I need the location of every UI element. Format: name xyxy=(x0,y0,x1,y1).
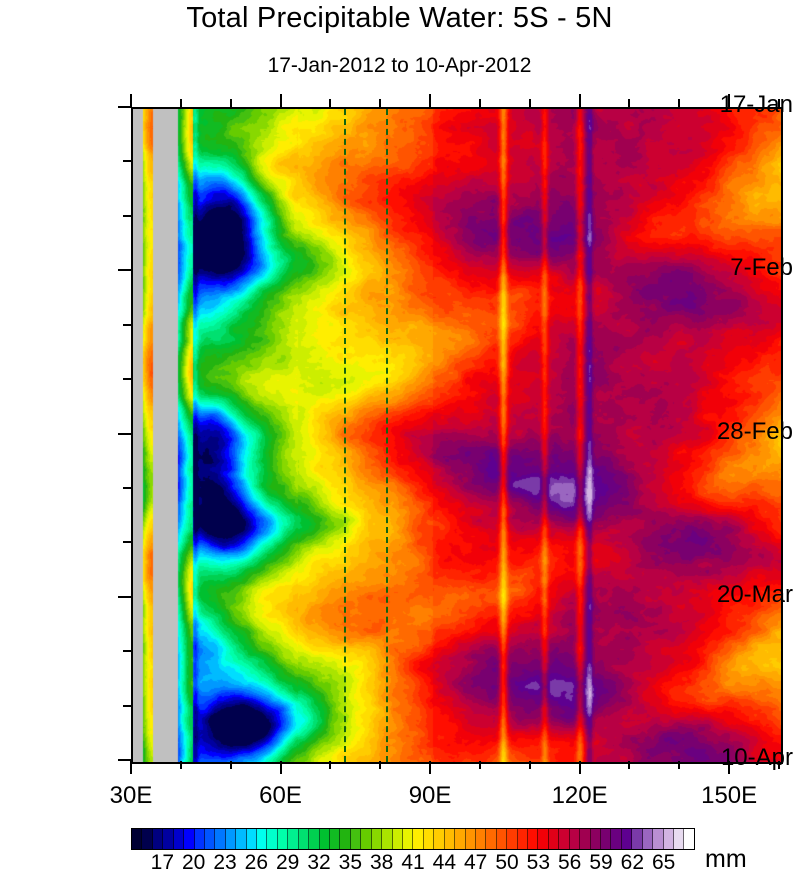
y-tick-minor xyxy=(123,487,131,489)
y-tick-minor xyxy=(123,324,131,326)
page-title: Total Precipitable Water: 5S - 5N xyxy=(0,2,799,35)
colorbar-tick-label: 65 xyxy=(634,851,694,875)
x-tick-minor xyxy=(479,761,481,769)
x-tick-minor-top xyxy=(628,99,630,107)
colorbar-swatch xyxy=(372,829,382,849)
colorbar-swatch xyxy=(361,829,371,849)
x-tick-minor xyxy=(379,761,381,769)
x-tick-minor xyxy=(678,761,680,769)
y-tick-minor xyxy=(123,378,131,380)
x-tick-minor-top xyxy=(230,99,232,107)
colorbar-swatch xyxy=(466,829,476,849)
colorbar-swatch xyxy=(632,829,642,849)
x-tick-minor-top xyxy=(678,99,680,107)
colorbar-swatch xyxy=(309,829,319,849)
colorbar xyxy=(131,828,695,850)
colorbar-swatch xyxy=(653,829,663,849)
x-tick-minor xyxy=(329,761,331,769)
colorbar-swatch xyxy=(476,829,486,849)
x-tick-minor xyxy=(180,761,182,769)
colorbar-swatch xyxy=(393,829,403,849)
colorbar-swatch xyxy=(497,829,507,849)
y-tick-minor xyxy=(123,215,131,217)
y-tick-label: 17-Jan xyxy=(681,91,799,119)
colorbar-swatch xyxy=(382,829,392,849)
y-tick-minor xyxy=(123,650,131,652)
colorbar-swatch xyxy=(622,829,632,849)
x-tick-major-top xyxy=(429,94,431,107)
y-tick-major xyxy=(118,759,131,761)
y-tick-major xyxy=(118,433,131,435)
x-tick-minor-top xyxy=(379,99,381,107)
x-tick-minor xyxy=(628,761,630,769)
y-tick-label: 20-Mar xyxy=(681,581,799,609)
colorbar-swatch xyxy=(205,829,215,849)
colorbar-swatch xyxy=(247,829,257,849)
colorbar-swatch xyxy=(674,829,684,849)
date-range-subtitle: 17-Jan-2012 to 10-Apr-2012 xyxy=(0,54,799,78)
colorbar-swatch xyxy=(549,829,559,849)
colorbar-swatch xyxy=(226,829,236,849)
vline-annotation-73e xyxy=(344,109,346,762)
colorbar-swatch xyxy=(580,829,590,849)
x-tick-minor-top xyxy=(180,99,182,107)
colorbar-swatch xyxy=(153,829,163,849)
x-tick-label: 150E xyxy=(669,782,789,810)
y-tick-major xyxy=(118,269,131,271)
colorbar-swatch xyxy=(507,829,517,849)
colorbar-swatch xyxy=(278,829,288,849)
colorbar-swatch xyxy=(434,829,444,849)
colorbar-swatch xyxy=(518,829,528,849)
colorbar-unit-label: mm xyxy=(705,845,747,874)
colorbar-swatch xyxy=(403,829,413,849)
colorbar-swatch xyxy=(643,829,653,849)
x-tick-minor-top xyxy=(329,99,331,107)
x-tick-minor xyxy=(529,761,531,769)
x-tick-minor-top xyxy=(479,99,481,107)
colorbar-swatch xyxy=(664,829,674,849)
colorbar-swatch xyxy=(184,829,194,849)
colorbar-swatch xyxy=(330,829,340,849)
x-tick-major-top xyxy=(280,94,282,107)
colorbar-swatch xyxy=(299,829,309,849)
colorbar-swatch xyxy=(591,829,601,849)
y-tick-minor xyxy=(123,705,131,707)
y-tick-minor xyxy=(123,541,131,543)
colorbar-swatch xyxy=(424,829,434,849)
colorbar-swatch xyxy=(257,829,267,849)
colorbar-tick-labels: 1720232629323538414447505356596265 xyxy=(0,851,799,877)
colorbar-swatch xyxy=(455,829,465,849)
colorbar-swatch xyxy=(538,829,548,849)
vline-annotation-81e xyxy=(386,109,388,762)
y-tick-label: 10-Apr xyxy=(681,744,799,772)
colorbar-swatch xyxy=(267,829,277,849)
colorbar-swatch xyxy=(215,829,225,849)
y-tick-major xyxy=(118,596,131,598)
colorbar-swatch xyxy=(340,829,350,849)
x-tick-major xyxy=(130,761,132,774)
x-tick-minor xyxy=(230,761,232,769)
x-tick-major xyxy=(429,761,431,774)
colorbar-swatch xyxy=(486,829,496,849)
colorbar-swatch xyxy=(528,829,538,849)
x-tick-major xyxy=(579,761,581,774)
colorbar-swatch xyxy=(195,829,205,849)
colorbar-swatch xyxy=(142,829,152,849)
colorbar-swatch xyxy=(570,829,580,849)
x-tick-label: 90E xyxy=(370,782,490,810)
colorbar-swatch xyxy=(174,829,184,849)
x-tick-label: 30E xyxy=(71,782,191,810)
x-tick-label: 60E xyxy=(221,782,341,810)
x-tick-major-top xyxy=(579,94,581,107)
colorbar-swatch xyxy=(236,829,246,849)
y-tick-major xyxy=(118,106,131,108)
colorbar-swatch xyxy=(163,829,173,849)
colorbar-swatch xyxy=(288,829,298,849)
x-tick-minor-top xyxy=(529,99,531,107)
colorbar-swatch xyxy=(445,829,455,849)
colorbar-swatch xyxy=(559,829,569,849)
colorbar-swatch xyxy=(611,829,621,849)
colorbar-swatch xyxy=(413,829,423,849)
colorbar-swatch xyxy=(320,829,330,849)
colorbar-swatch xyxy=(684,829,693,849)
colorbar-swatch xyxy=(601,829,611,849)
y-tick-minor xyxy=(123,160,131,162)
y-tick-label: 28-Feb xyxy=(681,418,799,446)
y-tick-label: 7-Feb xyxy=(681,254,799,282)
x-tick-label: 120E xyxy=(520,782,640,810)
colorbar-swatch xyxy=(132,829,142,849)
x-tick-major xyxy=(280,761,282,774)
colorbar-swatch xyxy=(351,829,361,849)
